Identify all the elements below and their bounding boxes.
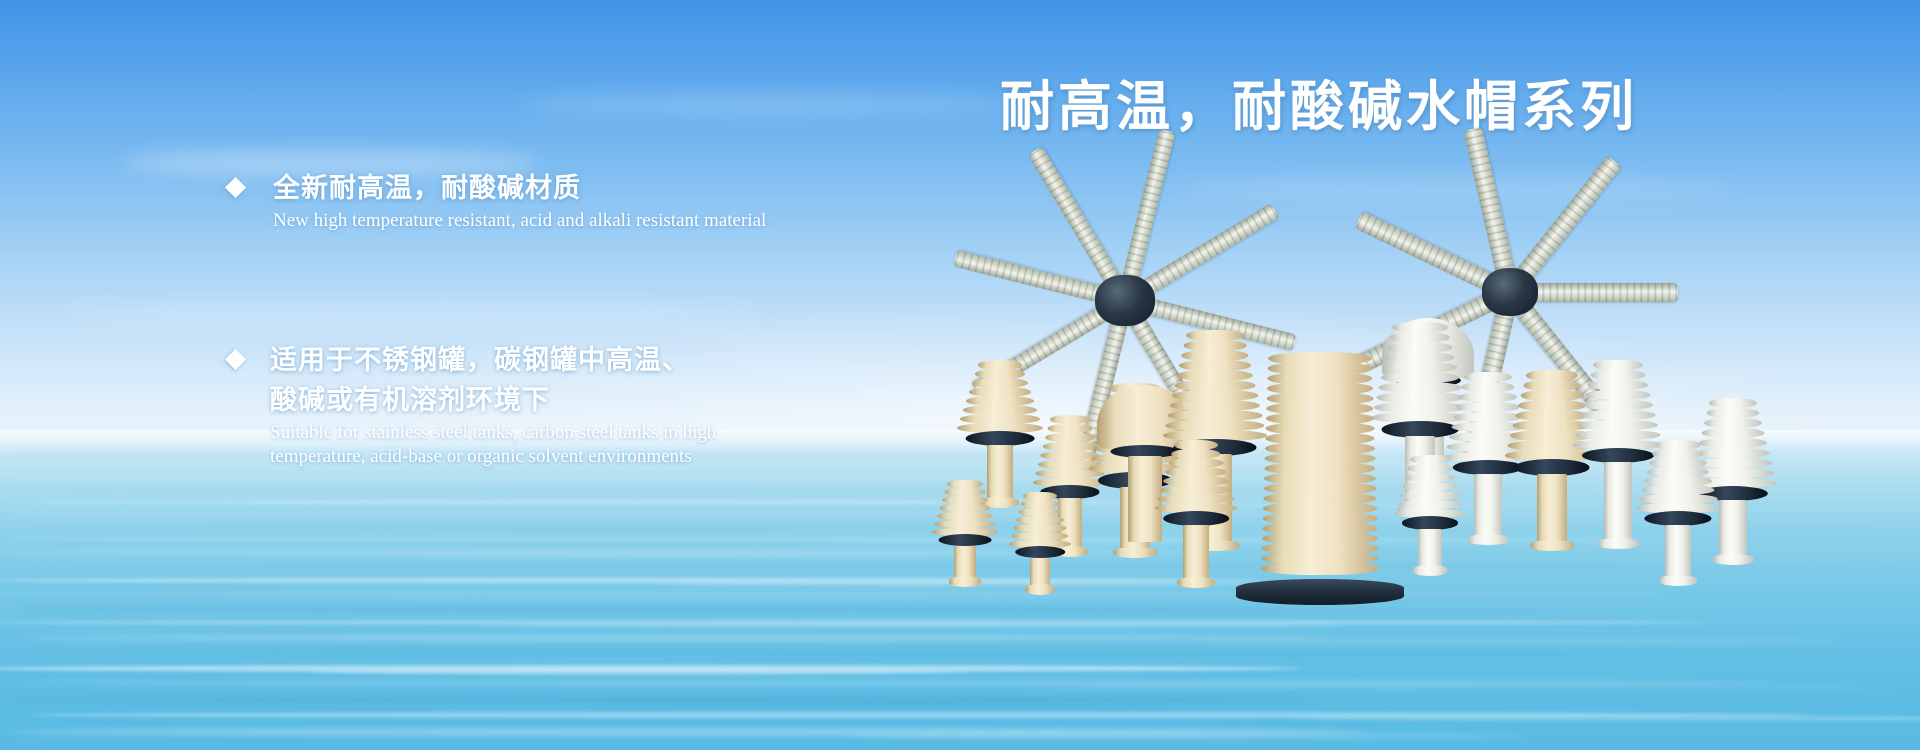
cap-fin	[1593, 360, 1643, 370]
cap-stem-collar	[949, 576, 981, 587]
cap-fin	[945, 488, 986, 496]
o-ring-seal	[1453, 460, 1523, 475]
feature-bullet-2: 适用于不锈钢罐，碳钢罐中高温、 酸碱或有机溶剂环境下 Suitable for …	[228, 340, 868, 468]
cap-fin	[1457, 402, 1520, 412]
cap-fin	[937, 512, 993, 520]
cap-fin	[1408, 464, 1453, 473]
o-ring-seal	[1015, 546, 1065, 558]
cap-fin	[940, 504, 991, 512]
cap-fin	[1699, 438, 1767, 448]
cap-stem-collar	[1713, 554, 1754, 565]
diamond-marker-icon	[225, 177, 246, 198]
cap-fin	[1576, 430, 1661, 440]
cap-fin	[1410, 455, 1450, 464]
cap-fin	[1591, 370, 1646, 380]
cap-fin	[1586, 390, 1651, 400]
cap-fin	[1454, 412, 1522, 422]
cap-fin	[1018, 508, 1061, 516]
spoke-hub	[1482, 268, 1538, 316]
cap-fin	[1261, 562, 1379, 575]
product-banner: 耐高温，耐酸碱水帽系列 全新耐高温，耐酸碱材质 New high tempera…	[0, 0, 1920, 750]
cap-fin	[1707, 408, 1760, 418]
cap-stem	[1604, 462, 1632, 548]
bullet-2-en-line-1: Suitable for stainless steel tanks, carb…	[270, 421, 868, 444]
cap-stem-collar	[1026, 584, 1055, 595]
spoke-hub	[1095, 275, 1155, 326]
cap-stem-collar	[1468, 534, 1509, 545]
feature-bullet-list: 全新耐高温，耐酸碱材质 New high temperature resista…	[228, 168, 868, 468]
o-ring-seal	[1163, 511, 1229, 526]
cap-stem-collar	[1659, 575, 1697, 586]
cap-stem-collar	[1177, 577, 1215, 588]
cap-fin	[1021, 500, 1060, 508]
cap-fin	[1405, 473, 1455, 482]
o-ring-seal	[1382, 421, 1459, 438]
cap-stem-collar	[1413, 565, 1448, 576]
cap-stem-collar	[1113, 547, 1157, 558]
cap-fin	[1464, 372, 1512, 382]
bullet-2-en-line-2: temperature, acid-base or organic solven…	[270, 445, 868, 468]
o-ring-seal	[1644, 511, 1711, 526]
cap-fin	[1023, 492, 1057, 500]
bullet-2-cn-line-2: 酸碱或有机溶剂环境下	[270, 380, 868, 420]
cap-fin	[1583, 400, 1653, 410]
bullet-1-cn-line-1: 全新耐高温，耐酸碱材质	[273, 168, 868, 208]
cap-fin	[1709, 398, 1757, 408]
diamond-marker-icon	[225, 349, 246, 370]
cap-fin	[935, 520, 996, 528]
cap-fin	[1581, 410, 1656, 420]
cap-fin	[942, 496, 988, 504]
cap-fin	[947, 480, 983, 488]
cap-fin	[1014, 524, 1067, 532]
cap-fin	[1578, 420, 1658, 430]
cap-fin	[1048, 424, 1093, 433]
o-ring-seal	[1582, 448, 1654, 463]
o-ring-seal	[1514, 459, 1589, 476]
o-ring-seal	[1402, 516, 1458, 530]
cap-fin	[1043, 442, 1098, 451]
page-title: 耐高温，耐酸碱水帽系列	[1000, 62, 1638, 141]
cap-fin	[1400, 491, 1460, 500]
cap-fin	[1403, 482, 1458, 491]
cap-stem	[1537, 474, 1567, 550]
feature-bullet-1: 全新耐高温，耐酸碱材质 New high temperature resista…	[228, 168, 868, 232]
base-flange	[1236, 579, 1404, 605]
cap-fin	[1462, 382, 1515, 392]
cap-stem-collar	[1530, 540, 1574, 551]
bullet-1-en-line-1: New high temperature resistant, acid and…	[273, 209, 868, 232]
cap-fin	[1697, 448, 1770, 458]
cap-fin	[1459, 392, 1517, 402]
cap-fin	[1398, 500, 1463, 509]
cap-fin	[1702, 428, 1765, 438]
bullet-2-cn-line-1: 适用于不锈钢罐，碳钢罐中高温、	[270, 340, 868, 380]
cap-fin	[1050, 415, 1090, 424]
cap-fin	[1588, 380, 1648, 390]
o-ring-seal	[966, 431, 1035, 446]
cap-fin	[1011, 532, 1068, 540]
cap-fin	[1016, 516, 1064, 524]
cap-stem-collar	[1598, 538, 1639, 549]
cap-fin	[1704, 418, 1762, 428]
cap-fin	[1045, 433, 1095, 442]
o-ring-seal	[939, 534, 992, 546]
